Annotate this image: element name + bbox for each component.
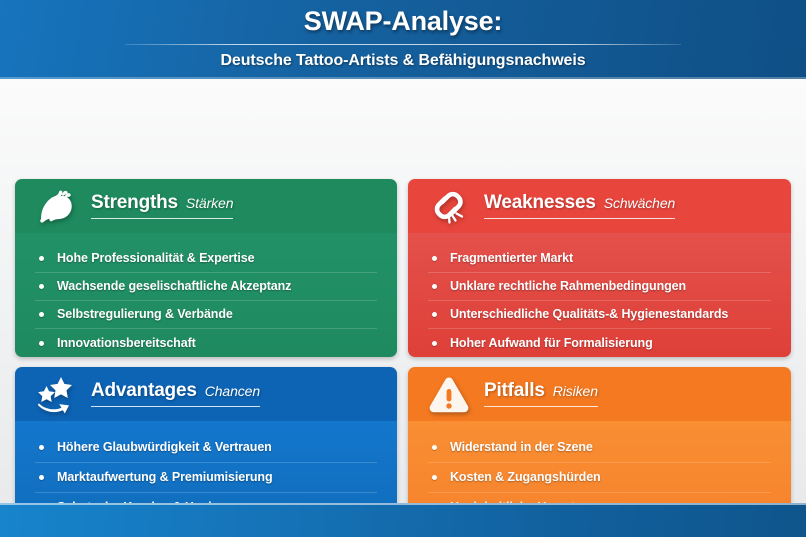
flexed-bicep-icon [33, 184, 79, 228]
quadrant-weaknesses-body: Fragmentierter Markt Unklare rechtliche … [408, 233, 791, 357]
list-item[interactable]: Wachsende geselischaftliche Akzeptanz [35, 273, 377, 301]
quadrant-strengths-header: Strengths Stärken [15, 179, 397, 233]
strengths-list: Hohe Professionalität & Expertise Wachse… [35, 245, 377, 357]
quadrant-title-underline [91, 406, 260, 407]
quadrant-title-en: Pitfalls [484, 380, 545, 402]
list-item[interactable]: Hoher Aufwand für Formalisierung [428, 329, 771, 357]
quadrant-strengths[interactable]: Strengths Stärken Hohe Professionalität … [15, 179, 397, 357]
list-item[interactable]: Innovationsbereitschaft [35, 329, 377, 357]
quadrant-weaknesses-titles: Weaknesses Schwächen [484, 192, 675, 221]
list-item[interactable]: Unklare rechtliche Rahmenbedingungen [428, 273, 771, 301]
quadrant-weaknesses[interactable]: Weaknesses Schwächen Fragmentierter Mark… [408, 179, 791, 357]
warning-triangle-icon [426, 372, 472, 416]
list-item[interactable]: Kosten & Zugangshürden [428, 463, 771, 493]
quadrant-title-en: Weaknesses [484, 192, 596, 214]
list-item[interactable]: Widerstand in der Szene [428, 433, 771, 463]
quadrant-title-underline [484, 218, 675, 219]
quadrant-pitfalls-header: Pitfalls Risiken [408, 367, 791, 421]
two-stars-rising-icon [33, 372, 79, 416]
matrix-stage: Strengths Stärken Hohe Professionalität … [0, 79, 806, 503]
quadrant-pitfalls-titles: Pitfalls Risiken [484, 380, 598, 409]
page-header: SWAP-Analyse: Deutsche Tattoo-Artists & … [0, 0, 806, 79]
quadrant-weaknesses-header: Weaknesses Schwächen [408, 179, 791, 233]
quadrant-strengths-body: Hohe Professionalität & Expertise Wachse… [15, 233, 397, 357]
page-title: SWAP-Analyse: [0, 6, 806, 37]
quadrant-title-underline [91, 218, 233, 219]
header-divider [125, 44, 681, 45]
weaknesses-list: Fragmentierter Markt Unklare rechtliche … [428, 245, 771, 357]
quadrant-title-underline [484, 406, 598, 407]
broken-chain-link-icon [426, 184, 472, 228]
quadrant-title-de: Stärken [186, 195, 234, 211]
quadrant-title-de: Risiken [553, 383, 598, 399]
quadrant-strengths-titles: Strengths Stärken [91, 192, 233, 221]
page-subtitle: Deutsche Tattoo-Artists & Befähigungsnac… [0, 52, 806, 70]
page-footer [0, 503, 806, 537]
list-item[interactable]: Höhere Glaubwürdigkeit & Vertrauen [35, 433, 377, 463]
list-item[interactable]: Unterschiedliche Qualitäts-& Hygienestan… [428, 301, 771, 329]
quadrant-title-de: Chancen [205, 383, 260, 399]
quadrant-title-en: Strengths [91, 192, 178, 214]
list-item[interactable]: Fragmentierter Markt [428, 245, 771, 273]
list-item[interactable]: Marktaufwertung & Premiumisierung [35, 463, 377, 493]
quadrant-advantages-header: Advantages Chancen [15, 367, 397, 421]
quadrant-advantages-titles: Advantages Chancen [91, 380, 260, 409]
list-item[interactable]: Hohe Professionalität & Expertise [35, 245, 377, 273]
quadrant-title-de: Schwächen [604, 195, 675, 211]
quadrant-title-en: Advantages [91, 380, 197, 402]
list-item[interactable]: Selbstregulierung & Verbände [35, 301, 377, 329]
